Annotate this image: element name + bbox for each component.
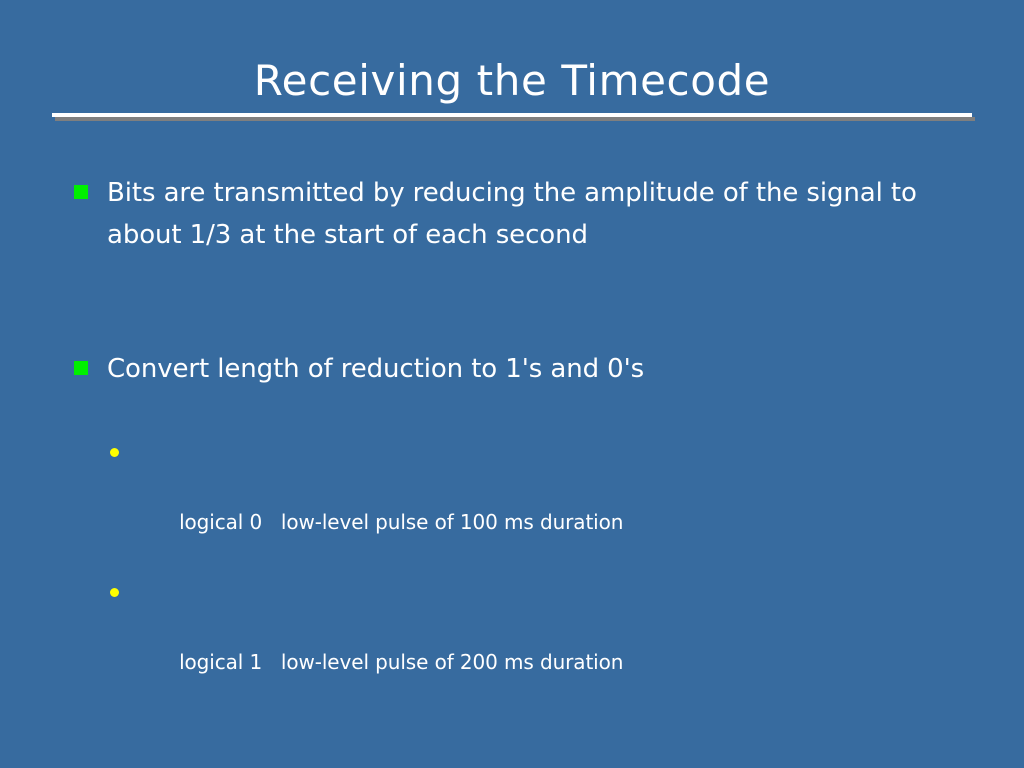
list-item-label: Bits are transmitted by reducing the amp… xyxy=(107,172,954,256)
green-square-bullet-icon xyxy=(74,185,88,199)
slide-title-block: Receiving the Timecode xyxy=(0,56,1024,106)
title-divider-shadow xyxy=(55,117,975,121)
slide-canvas: Receiving the Timecode Bits are transmit… xyxy=(0,0,1024,768)
list-item: Convert length of reduction to 1's and 0… xyxy=(74,348,954,390)
slide-body: Bits are transmitted by reducing the amp… xyxy=(74,172,954,715)
list-item-label: Convert length of reduction to 1's and 0… xyxy=(107,348,954,390)
yellow-dot-bullet-icon xyxy=(110,448,119,457)
list-item-label: logical 1 low-level pulse of 200 ms dura… xyxy=(179,645,623,680)
title-divider-line xyxy=(52,113,972,117)
page-title: Receiving the Timecode xyxy=(254,56,770,106)
list-item: logical 1 low-level pulse of 200 ms dura… xyxy=(107,575,954,715)
green-square-bullet-icon xyxy=(74,361,88,375)
title-divider xyxy=(52,113,972,121)
sub-bullet-list: logical 0 low-level pulse of 100 ms dura… xyxy=(74,435,954,715)
list-item: logical 0 low-level pulse of 100 ms dura… xyxy=(107,435,954,575)
yellow-dot-bullet-icon xyxy=(110,588,119,597)
list-item: Bits are transmitted by reducing the amp… xyxy=(74,172,954,256)
list-item-label: logical 0 low-level pulse of 100 ms dura… xyxy=(179,505,623,540)
